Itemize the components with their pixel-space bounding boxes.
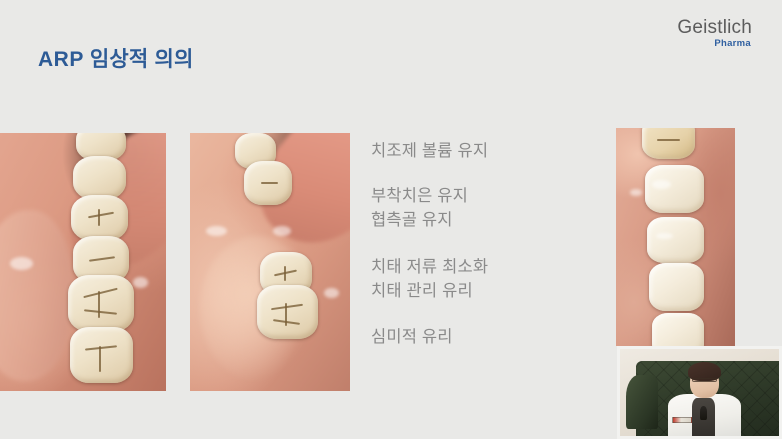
page-title-accent: ARP xyxy=(38,48,84,71)
bullet-group: 치태 저류 최소화 치태 관리 유리 xyxy=(371,256,596,303)
bullet-group: 부착치은 유지 협측골 유지 xyxy=(371,185,596,232)
logo-tagline: Pharma xyxy=(677,39,751,49)
geistlich-logo: Geistlich Pharma xyxy=(677,18,752,49)
bullet-line: 심미적 유리 xyxy=(371,326,596,349)
bullet-line: 부착치은 유지 xyxy=(371,185,596,208)
page-title: ARP 임상적 의의 xyxy=(38,43,194,73)
logo-wordmark: Geistlich xyxy=(677,18,752,37)
bullet-line: 치태 관리 유리 xyxy=(371,280,596,303)
photo-preop-occlusal xyxy=(0,133,166,391)
photo-healed-ridge xyxy=(190,133,350,391)
bullet-line: 협측골 유지 xyxy=(371,209,596,232)
bullet-group: 심미적 유리 xyxy=(371,326,596,349)
slide-canvas: Geistlich Pharma ARP 임상적 의의 xyxy=(0,0,782,439)
bullet-line: 치태 저류 최소화 xyxy=(371,256,596,279)
bullet-text-block: 치조제 볼륨 유지 부착치은 유지 협측골 유지 치태 저류 최소화 치태 관리… xyxy=(371,140,596,350)
page-title-rest: 임상적 의의 xyxy=(84,48,194,71)
bullet-line: 치조제 볼륨 유지 xyxy=(371,140,596,163)
presenter-webcam[interactable] xyxy=(617,346,782,439)
photo-restored-crowns xyxy=(616,128,735,346)
bullet-group: 치조제 볼륨 유지 xyxy=(371,140,596,163)
webcam-video xyxy=(620,349,779,436)
